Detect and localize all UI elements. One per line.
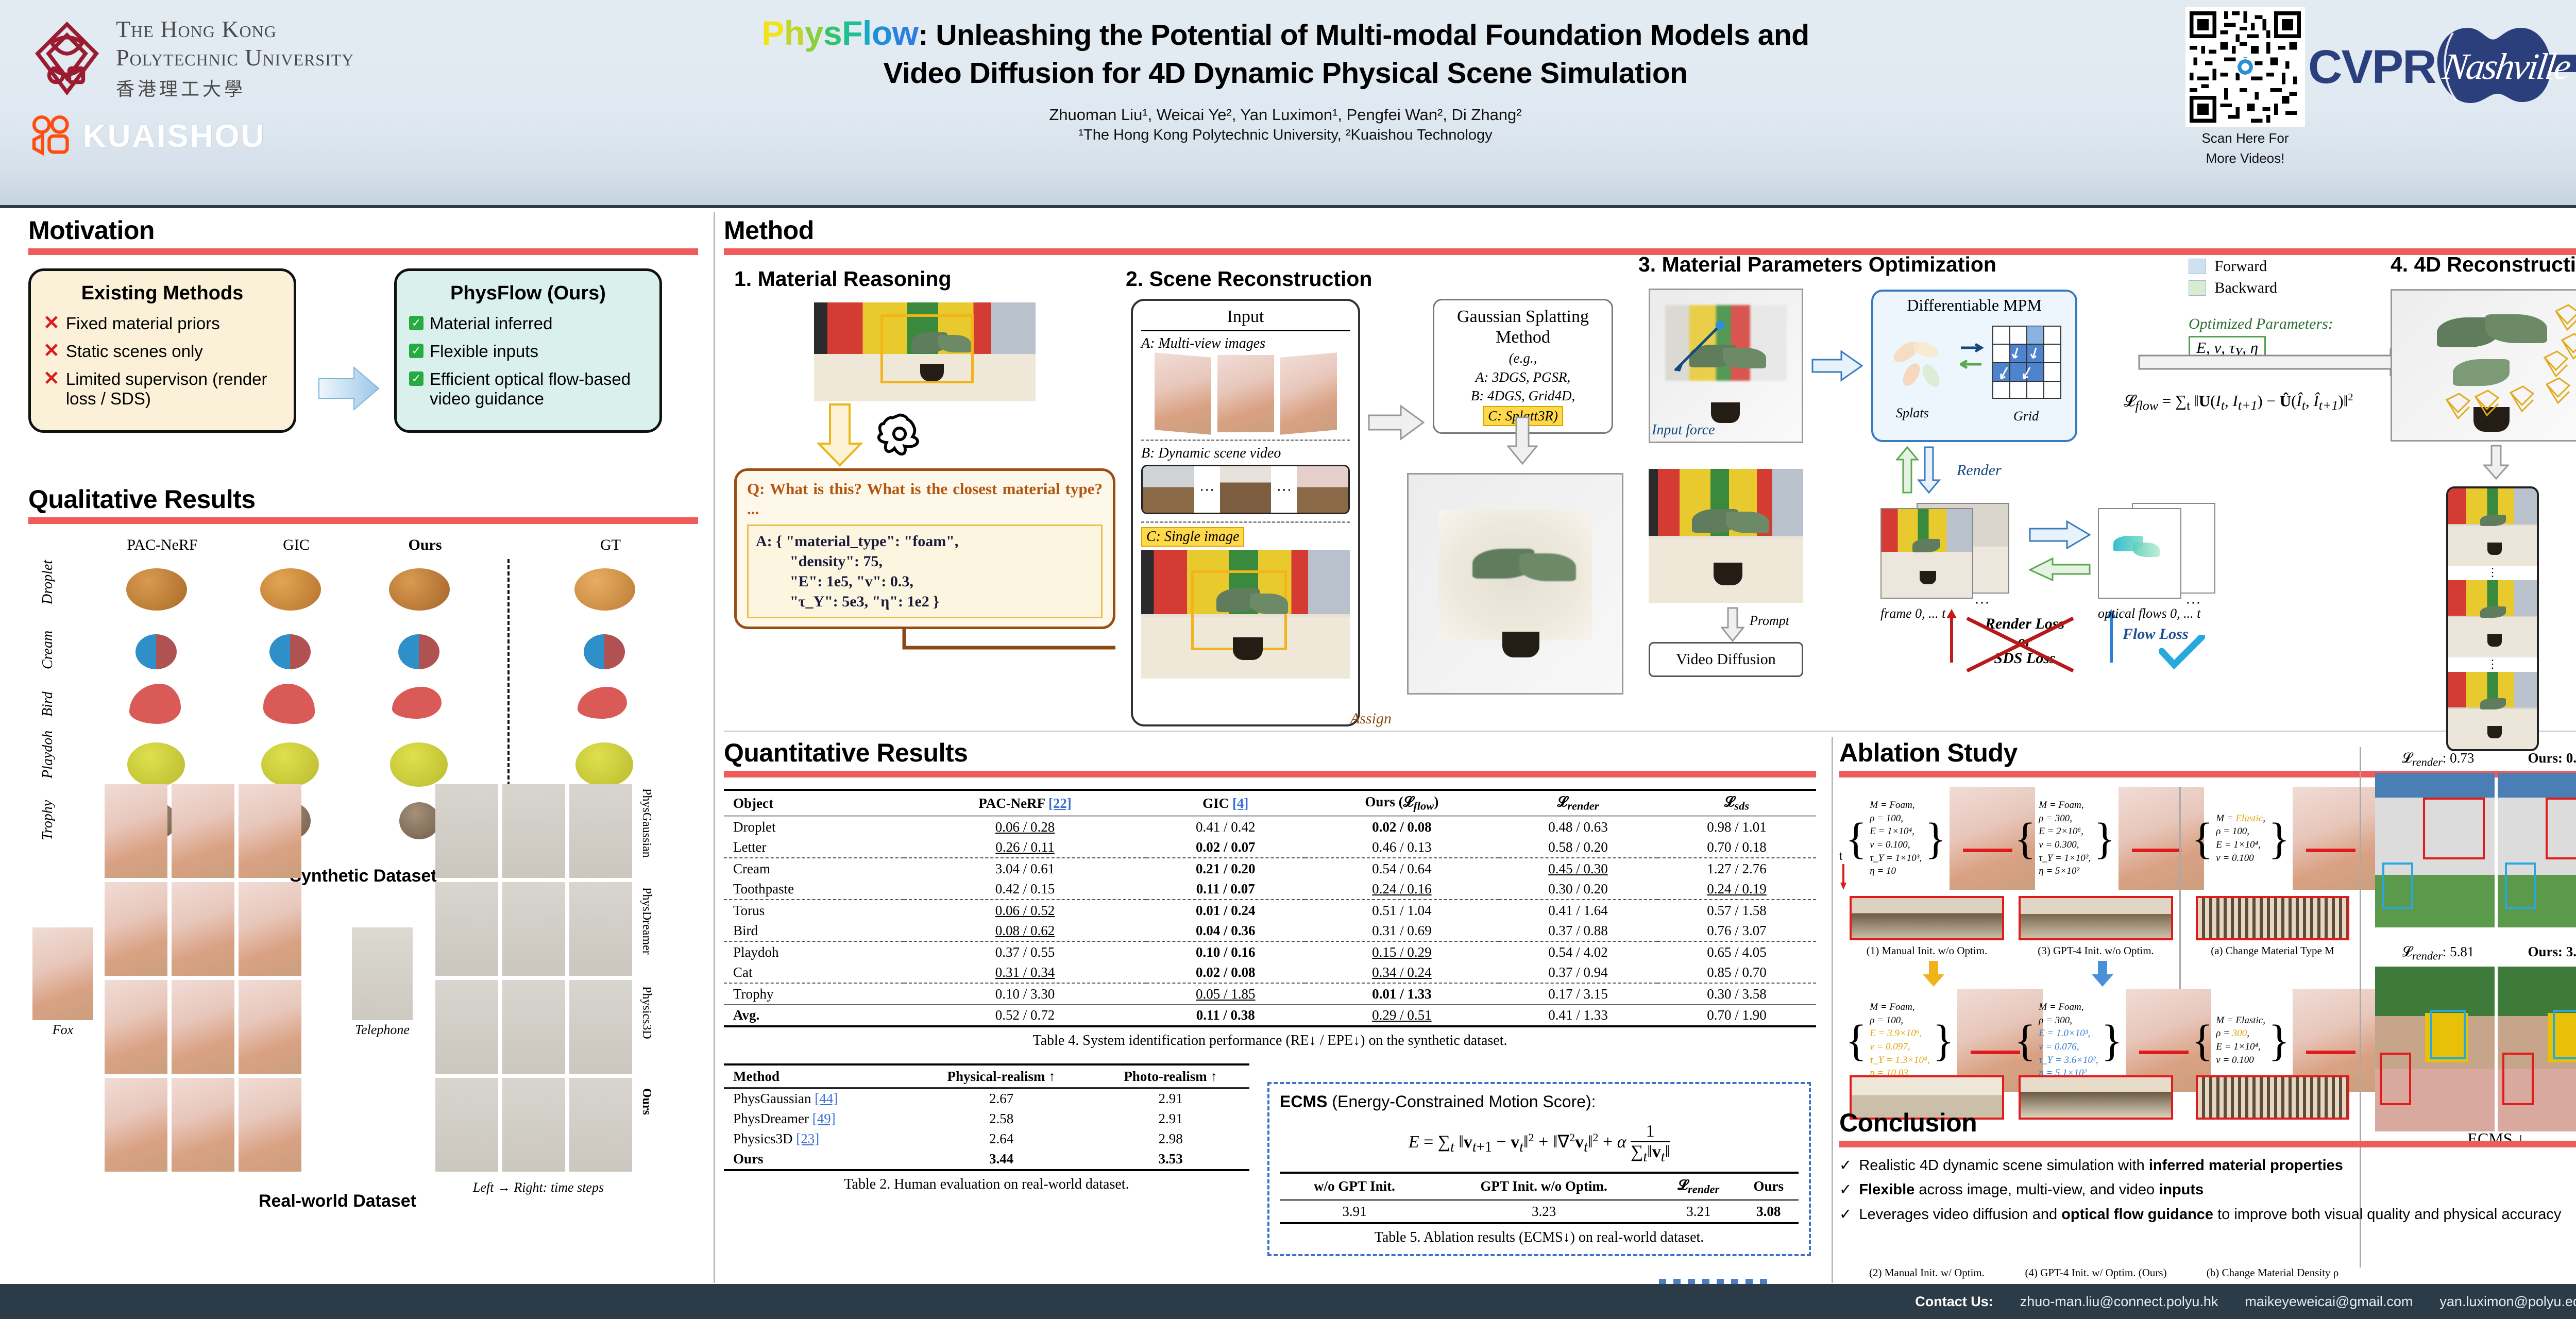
cross-icon: ✕ (43, 369, 60, 388)
input-c-label: C: Single image (1141, 527, 1350, 547)
cell-object: Toothpaste (724, 879, 904, 900)
quantitative-rule (724, 771, 1816, 777)
brace-open-icon: { (2192, 821, 2213, 856)
author-list: Zhuoman Liu¹, Weicai Ye², Yan Luximon¹, … (526, 104, 2045, 127)
ablation-caption-b: (b) Change Material Density ρ (2196, 1266, 2349, 1279)
check-icon: ✓ (409, 316, 423, 330)
optflow-index-label: optical flows 0, ... t (2098, 606, 2247, 621)
single-image-photo (1141, 550, 1350, 679)
force-arrow-icon (1666, 321, 1727, 378)
cell-method: Physics3D [23] (724, 1129, 911, 1149)
th-render: 𝓛render (1658, 1175, 1739, 1198)
th-ours: Ours (1739, 1175, 1799, 1198)
result-frames-strip: ⋮ ⋮ (2446, 486, 2539, 751)
qual-column-header: GIC (245, 536, 348, 554)
cell-render: 0.54 / 4.02 (1499, 942, 1657, 962)
method-row-label: PhysGaussian (639, 788, 653, 858)
prompt-label: Prompt (1750, 613, 1789, 629)
cell-physical: 3.44 (911, 1149, 1092, 1170)
ablation-timeslice-a (2196, 896, 2349, 940)
cell-sds: 0.70 / 0.18 (1657, 837, 1816, 858)
qual-sample-image (398, 634, 439, 669)
conclusion-item: ✓ Leverages video diffusion and optical … (1839, 1206, 2576, 1224)
method-step4: 4. 4D Reconstruction ⋮ (2391, 252, 2576, 751)
conclusion-item: ✓ Flexible across image, multi-view, and… (1839, 1181, 2576, 1199)
conclusion-item-text: Leverages video diffusion and optical fl… (1859, 1206, 2561, 1224)
check-icon: ✓ (1839, 1181, 1852, 1199)
prompt-photo (1649, 469, 1803, 603)
method-row-label: PhysDreamer (639, 887, 653, 955)
frame-index-label: frame 0, ... t (1880, 606, 2004, 621)
cell-render: 0.45 / 0.30 (1499, 859, 1657, 879)
comparison-right-label: Ours: 0.68 (2528, 750, 2576, 769)
cell-ours: 0.46 / 0.13 (1305, 837, 1499, 858)
cell-ours: 0.34 / 0.24 (1305, 962, 1499, 983)
brace-close-icon: } (2102, 1023, 2123, 1058)
existing-item-label: Static scenes only (66, 342, 203, 361)
table-row: PhysGaussian [44]2.672.91 (724, 1088, 1249, 1109)
ablation-panel-a: { M = M = Elastic,Elastic, ρ = 100, E = … (2192, 787, 2378, 890)
grid-label: Grid (2013, 409, 2039, 424)
long-right-arrow-icon (2138, 348, 2427, 376)
cell-gic: 0.10 / 0.16 (1146, 942, 1305, 962)
brace-close-icon: } (1925, 821, 1946, 856)
legend-backward-label: Backward (2214, 279, 2277, 296)
cell-render: 0.58 / 0.20 (1499, 837, 1657, 858)
gs-option-b: B: 4DGS, Grid4D, (1442, 387, 1604, 404)
table2-caption: Table 2. Human evaluation on real-world … (724, 1176, 1249, 1193)
right-arrow-icon (1368, 404, 1425, 441)
fox-frame (172, 1078, 234, 1172)
realworld-dataset-section: Fox Telephone PhysGaussian P (28, 773, 698, 1216)
gpt-question: Q: What is this? What is the closest mat… (747, 479, 1103, 519)
cell-ours: 0.24 / 0.16 (1305, 879, 1499, 900)
horizontal-divider (724, 731, 2576, 732)
cell-ours: 0.15 / 0.29 (1305, 942, 1499, 962)
comparison-image-left (2375, 773, 2495, 927)
table-row: Letter0.26 / 0.110.02 / 0.070.46 / 0.130… (724, 837, 1816, 858)
brace-open-icon: { (2192, 1023, 2213, 1058)
conclusion-item: ✓ Realistic 4D dynamic scene simulation … (1839, 1157, 2576, 1175)
backward-color-swatch (2189, 280, 2206, 296)
brace-open-icon: { (1845, 821, 1867, 856)
cross-icon: ✕ (43, 314, 60, 332)
ecms-box: ECMS (Energy-Constrained Motion Score): … (1267, 1082, 1811, 1256)
th-pacnerf: PAC-NeRF [22] (904, 792, 1146, 815)
th-ours: Ours (𝓛flow) (1305, 792, 1499, 815)
td-ours: 3.08 (1739, 1200, 1799, 1223)
ablation-params-b: M = Elastic, ρ = 300, E = 1×10⁴,ν = 0.10… (2216, 1014, 2265, 1067)
table-row: Physics3D [23]2.642.98 (724, 1129, 1249, 1149)
th-method: Method (724, 1067, 911, 1087)
input-heading: Input (1141, 307, 1350, 331)
answer-line: "density": 75, (756, 551, 1094, 571)
method-title: Method (724, 215, 2576, 245)
cell-object: Avg. (724, 1005, 904, 1026)
multiview-image (1217, 355, 1274, 432)
cell-sds: 0.30 / 3.58 (1657, 984, 1816, 1005)
answer-line: A: { "material_type": "foam", (756, 531, 1094, 551)
th-object: Object (724, 792, 904, 815)
univ-name-chinese: 香港理工大學 (116, 74, 354, 101)
gs-option-a: A: 3DGS, PGSR, (1442, 369, 1604, 385)
ablation-caption-a: (a) Change Material Type M (2196, 944, 2349, 957)
contact-email[interactable]: maikeyeweicai@gmail.com (2245, 1294, 2413, 1310)
input-box: Input A: Multi-view images B: Dynamic sc… (1131, 299, 1360, 726)
input-b-label: B: Dynamic scene video (1141, 445, 1350, 462)
ablation-panel-3: { M = Foam,ρ = 300, E = 2×10⁶,ν = 0.300,… (2014, 787, 2204, 890)
qual-row-label: Bird (40, 691, 56, 717)
table-row: Playdoh0.37 / 0.550.10 / 0.160.15 / 0.29… (724, 942, 1816, 962)
cell-object: Torus (724, 901, 904, 921)
cell-photo: 2.91 (1092, 1088, 1249, 1109)
th-physical: Physical-realism ↑ (911, 1067, 1092, 1087)
univ-name-line1: The Hong Kong (116, 15, 354, 43)
cell-ours: 0.54 / 0.64 (1305, 859, 1499, 879)
cell-object: Trophy (724, 984, 904, 1005)
table-bottom-rule (724, 1170, 1249, 1172)
cell-gic: 0.04 / 0.36 (1146, 921, 1305, 941)
telephone-frame (502, 882, 565, 976)
cell-method: Ours (724, 1149, 911, 1170)
cell-ours: 0.31 / 0.69 (1305, 921, 1499, 941)
openai-logo-icon (876, 411, 923, 457)
assign-label: Assign (1350, 710, 1392, 728)
gpt-qa-box: Q: What is this? What is the closest mat… (734, 468, 1115, 629)
conclusion-rule (1839, 1141, 2576, 1147)
gs-title: Gaussian Splatting Method (1442, 307, 1604, 348)
table-row: Bird0.08 / 0.620.04 / 0.360.31 / 0.690.3… (724, 921, 1816, 941)
fox-frame (105, 882, 167, 976)
poster-title-line2: Video Diffusion for 4D Dynamic Physical … (526, 55, 2045, 92)
cell-object: Droplet (724, 816, 904, 837)
step4-title: 4. 4D Reconstruction (2391, 252, 2576, 277)
qual-sample-image (584, 634, 625, 669)
table2: Method Physical-realism ↑ Photo-realism … (724, 1063, 1249, 1173)
gs-eg: (e.g., (1442, 350, 1604, 366)
kuaishou-logo: KUAISHOU (28, 112, 266, 160)
brand-wordmark: PhysFlow (761, 14, 918, 52)
cell-photo: 3.53 (1092, 1149, 1249, 1170)
down-arrow-icon (1507, 416, 1538, 466)
qual-sample-image (260, 568, 321, 611)
down-arrow-icon (2483, 445, 2509, 481)
qual-sample-image (263, 684, 315, 724)
cell-object: Letter (724, 837, 904, 858)
cell-method: PhysGaussian [44] (724, 1088, 911, 1109)
assign-connector (734, 627, 1115, 660)
comparison-block-2: 𝓛render: 5.81 Ours: 3.25 (2375, 944, 2576, 1131)
method-row-label: Physics3D (639, 986, 653, 1039)
qual-row-label: Cream (40, 631, 56, 669)
contact-email[interactable]: zhuo-man.liu@connect.polyu.hk (2020, 1294, 2218, 1310)
down-arrow-icon (1721, 607, 1744, 643)
cell-pacnerf: 0.06 / 0.28 (904, 816, 1146, 837)
optimized-params-title: Optimized Parameters: (2189, 315, 2415, 333)
cell-pacnerf: 0.26 / 0.11 (904, 837, 1146, 858)
multiview-image (1155, 352, 1211, 435)
vertical-divider-left (714, 212, 715, 1283)
cell-object: Cream (724, 859, 904, 879)
cell-render: 0.30 / 0.20 (1499, 879, 1657, 900)
ours-heading: PhysFlow (Ours) (409, 282, 647, 305)
univ-name-line2: Polytechnic University (116, 44, 354, 71)
table-row: Cream3.04 / 0.610.21 / 0.200.54 / 0.640.… (724, 859, 1816, 879)
ours-item-label: Flexible inputs (430, 342, 538, 361)
existing-methods-box: Existing Methods ✕ Fixed material priors… (28, 268, 296, 433)
td-wo-gpt: 3.91 (1280, 1200, 1429, 1223)
differentiable-mpm-box: Differentiable MPM Splats (1871, 290, 2077, 442)
right-arrow-icon (2029, 520, 2091, 549)
cell-render: 0.17 / 3.15 (1499, 984, 1657, 1005)
cell-gic: 0.11 / 0.07 (1146, 879, 1305, 900)
mpm-title: Differentiable MPM (1873, 292, 2075, 315)
kuaishou-mark-icon (28, 112, 76, 160)
ablation-caption-3: (3) GPT-4 Init. w/o Optim. (2019, 944, 2173, 957)
kuaishou-wordmark: KUAISHOU (83, 118, 266, 155)
splats-label: Splats (1896, 405, 1929, 421)
ablation-caption-1: (1) Manual Init. w/o Optim. (1850, 944, 2004, 957)
telephone-frame (435, 784, 498, 878)
cell-render: 0.37 / 0.88 (1499, 921, 1657, 941)
existing-methods-heading: Existing Methods (43, 282, 281, 305)
cell-pacnerf: 0.10 / 3.30 (904, 984, 1146, 1005)
cell-pacnerf: 0.31 / 0.34 (904, 962, 1146, 983)
poster-header: The Hong Kong Polytechnic University 香港理… (0, 0, 2576, 208)
cell-gic: 0.02 / 0.07 (1146, 837, 1305, 858)
qual-sample-image (392, 687, 442, 719)
qual-sample-image (135, 634, 177, 669)
fox-frame (172, 980, 234, 1074)
contact-email[interactable]: yan.luximon@polyu.edu.hk (2439, 1294, 2576, 1310)
cell-sds: 0.98 / 1.01 (1657, 816, 1816, 837)
cell-gic: 0.02 / 0.08 (1146, 962, 1305, 983)
fox-frame (172, 882, 234, 976)
ablation-panel-1: { M = Foam,ρ = 100, E = 1×10⁴,ν = 0.100,… (1845, 787, 2035, 890)
ablation-params-4: M = Foam,ρ = 300, E = 1.0×10³,ν = 0.076,… (2039, 1001, 2098, 1080)
table-row: Trophy0.10 / 3.300.05 / 1.850.01 / 1.330… (724, 984, 1816, 1005)
ours-item-label: Efficient optical flow-based video guida… (430, 369, 647, 409)
right-arrow-icon (1811, 349, 1863, 382)
ablation-fox-render (2119, 787, 2204, 890)
conclusion-title: Conclusion (1839, 1108, 2576, 1138)
left-arrow-icon (2029, 557, 2091, 581)
dynamic-video-strip: ··· ··· (1141, 465, 1350, 514)
fox-reference-image (32, 927, 93, 1020)
telephone-label: Telephone (352, 1022, 413, 1038)
check-icon: ✓ (1839, 1157, 1852, 1175)
table5-caption: Table 5. Ablation results (ECMS↓) on rea… (1280, 1229, 1799, 1246)
check-icon: ✓ (1839, 1206, 1852, 1224)
telephone-frame (569, 882, 632, 976)
legend-forward-label: Forward (2214, 258, 2267, 275)
cell-render: 0.41 / 1.64 (1499, 901, 1657, 921)
conclusion-section: Conclusion ✓ Realistic 4D dynamic scene … (1839, 1108, 2576, 1224)
gaussian-scene-render (1407, 473, 1623, 695)
cell-pacnerf: 0.52 / 0.72 (904, 1005, 1146, 1026)
brace-close-icon: } (1933, 1023, 1954, 1058)
qual-column-header: GT (559, 536, 662, 554)
answer-line: "E": 1e5, "v": 0.3, (756, 571, 1094, 591)
brace-open-icon: { (2014, 1023, 2036, 1058)
table5-value-row: 3.91 3.23 3.21 3.08 (1280, 1200, 1799, 1223)
ablation-params-1: M = Foam,ρ = 100, E = 1×10⁴,ν = 0.100, τ… (1870, 799, 1922, 878)
video-diffusion-label: Video Diffusion (1676, 651, 1775, 668)
ours-item: ✓ Material inferred (409, 314, 647, 333)
fox-frame (105, 784, 167, 878)
comparison-left-label: 𝓛render: 0.73 (2402, 750, 2474, 769)
comparison-image-right (2498, 967, 2576, 1131)
th-photo: Photo-realism ↑ (1092, 1067, 1249, 1087)
ecms-expansion: (Energy-Constrained Motion Score): (1327, 1092, 1596, 1111)
existing-item-label: Fixed material priors (66, 314, 220, 333)
table2-header-row: Method Physical-realism ↑ Photo-realism … (724, 1067, 1249, 1087)
table-bottom-rule (724, 1026, 1816, 1028)
rendered-frames-stack: ··· (1880, 503, 2014, 601)
conclusion-item-text: Flexible across image, multi-view, and v… (1859, 1181, 2204, 1199)
scene-with-force (1649, 289, 1803, 443)
blue-down-arrow-icon (2090, 960, 2115, 988)
brace-close-icon: } (2268, 1023, 2290, 1058)
grid-icon (1992, 325, 2064, 402)
table-row: Torus0.06 / 0.520.01 / 0.240.51 / 1.040.… (724, 901, 1816, 921)
table-row: Ours3.443.53 (724, 1149, 1249, 1170)
brace-open-icon: { (2014, 821, 2036, 856)
motivation-rule (28, 248, 698, 255)
telephone-reference-image (352, 927, 413, 1020)
render-arrows-icon (1896, 445, 1953, 495)
cell-pacnerf: 0.08 / 0.62 (904, 921, 1146, 941)
input-force-label: Input force (1652, 422, 1715, 438)
cell-sds: 0.57 / 1.58 (1657, 901, 1816, 921)
ecms-formula: E = ∑t ‖vt+1 − vt‖2 + ‖∇2vt‖2 + α 1∑t‖vt… (1280, 1122, 1799, 1165)
telephone-frame (569, 1078, 632, 1172)
cvpr-city-label: Nashville (2440, 45, 2572, 88)
down-arrow-icon (817, 403, 863, 467)
th-render: 𝓛render (1499, 792, 1657, 815)
qual-sample-image (578, 687, 627, 719)
render-label: Render (1957, 462, 2002, 479)
telephone-frame (435, 1078, 498, 1172)
motivation-title: Motivation (28, 215, 698, 245)
step3-title: 3. Material Parameters Optimization (1638, 252, 2205, 277)
cell-ours: 0.02 / 0.08 (1305, 816, 1499, 837)
table-row: Toothpaste0.42 / 0.150.11 / 0.070.24 / 0… (724, 879, 1816, 900)
yellow-down-arrow-icon (1921, 960, 1946, 988)
4d-reconstruction-view (2391, 289, 2576, 442)
method-step2: 2. Scene Reconstruction Input A: Multi-v… (1126, 267, 1620, 291)
cvpr-logo: CVPR Nashville JUNE 11-15, 2025 (2308, 15, 2576, 119)
cvpr-wordmark: CVPR (2308, 40, 2436, 94)
qr-code-block[interactable]: Scan Here For More Videos! (2168, 7, 2323, 167)
cell-object: Playdoh (724, 942, 904, 962)
table4: Object PAC-NeRF [22] GIC [4] Ours (𝓛flow… (724, 789, 1816, 1028)
th-sds: 𝓛sds (1657, 792, 1816, 815)
splats-icon (1882, 327, 1959, 404)
th-gpt-wo-optim: GPT Init. w/o Optim. (1429, 1175, 1658, 1198)
cell-render: 0.41 / 1.33 (1499, 1005, 1657, 1026)
input-plant-photo (814, 302, 1036, 401)
fox-frame (239, 784, 301, 878)
cell-gic: 0.05 / 1.85 (1146, 984, 1305, 1005)
cross-icon: ✕ (43, 342, 60, 360)
ablation-caption-4: (4) GPT-4 Init. w/ Optim. (Ours) (2019, 1266, 2173, 1279)
ecms-acronym: ECMS (1280, 1092, 1327, 1111)
cell-photo: 2.98 (1092, 1129, 1249, 1149)
ablation-params-3: M = Foam,ρ = 300, E = 2×10⁶,ν = 0.300, τ… (2039, 799, 2091, 878)
physflow-ours-box: PhysFlow (Ours) ✓ Material inferred ✓ Fl… (394, 268, 662, 433)
optical-flow-stack: ··· (2098, 503, 2216, 601)
comparison-block-1: 𝓛render: 0.73 Ours: 0.68 (2375, 750, 2576, 927)
legend-forward-row: Forward (2189, 258, 2415, 275)
existing-method-item: ✕ Static scenes only (43, 342, 281, 361)
table-row: Avg.0.52 / 0.720.11 / 0.380.29 / 0.510.4… (724, 1005, 1816, 1026)
cell-physical: 2.64 (911, 1129, 1092, 1149)
cell-gic: 0.11 / 0.38 (1146, 1005, 1305, 1026)
ecms-title: ECMS (Energy-Constrained Motion Score): (1280, 1092, 1799, 1111)
poster-title-line1: PhysFlow: Unleashing the Potential of Mu… (526, 11, 2045, 55)
ablation-fox-render (2293, 787, 2378, 890)
fox-frame (239, 1078, 301, 1172)
qr-code-icon[interactable] (2185, 7, 2305, 127)
cell-gic: 0.01 / 0.24 (1146, 901, 1305, 921)
table4-header-row: Object PAC-NeRF [22] GIC [4] Ours (𝓛flow… (724, 792, 1816, 815)
cell-pacnerf: 0.42 / 0.15 (904, 879, 1146, 900)
contact-label: Contact Us: (1915, 1294, 1993, 1310)
gpt-answer: A: { "material_type": "foam", "density":… (747, 525, 1103, 618)
gaussian-splatting-box: Gaussian Splatting Method (e.g., A: 3DGS… (1433, 299, 1613, 434)
cell-sds: 1.27 / 2.76 (1657, 859, 1816, 879)
cell-pacnerf: 0.37 / 0.55 (904, 942, 1146, 962)
cell-photo: 2.91 (1092, 1109, 1249, 1129)
poster-title-rest: : Unleashing the Potential of Multi-moda… (919, 19, 1809, 52)
cell-sds: 0.85 / 0.70 (1657, 962, 1816, 983)
comparison-image-right (2498, 773, 2576, 927)
qualitative-title: Qualitative Results (28, 484, 698, 514)
telephone-frame (502, 784, 565, 878)
telephone-frame (569, 980, 632, 1074)
td-gpt-wo-optim: 3.23 (1429, 1200, 1658, 1223)
cell-gic: 0.21 / 0.20 (1146, 859, 1305, 879)
polyu-logo: The Hong Kong Polytechnic University 香港理… (28, 15, 354, 101)
forward-backward-arrows-icon (1960, 342, 1988, 375)
cell-object: Bird (724, 921, 904, 941)
qual-column-header: PAC-NeRF (111, 536, 214, 554)
cell-sds: 0.70 / 1.90 (1657, 1005, 1816, 1026)
answer-line: "τ_Y": 5e3, "η": 1e2 } (756, 591, 1094, 612)
ablation-timeslice-1 (1850, 896, 2004, 940)
strikethrough-icon (1960, 613, 2089, 675)
method-step3: 3. Material Parameters Optimization Inpu… (1638, 252, 2205, 277)
cell-physical: 2.67 (911, 1088, 1092, 1109)
method-section: Method (724, 215, 2576, 255)
qual-sample-image (574, 568, 635, 611)
brace-open-icon: { (1845, 1023, 1867, 1058)
qualitative-rule (28, 517, 698, 524)
cell-method: PhysDreamer [49] (724, 1109, 911, 1129)
fox-frame (172, 784, 234, 878)
qual-sample-image (126, 568, 187, 611)
poster-title-block: PhysFlow: Unleashing the Potential of Mu… (526, 11, 2045, 144)
multiview-image (1280, 352, 1337, 435)
polyu-emblem-icon (28, 20, 106, 97)
cell-gic: 0.41 / 0.42 (1146, 816, 1305, 837)
brace-close-icon: } (2094, 821, 2115, 856)
cell-sds: 0.76 / 3.07 (1657, 921, 1816, 941)
ablation-timeslice-3 (2019, 896, 2173, 940)
time-axis-label: t (1839, 850, 1842, 863)
cell-ours: 0.01 / 1.33 (1305, 984, 1499, 1005)
